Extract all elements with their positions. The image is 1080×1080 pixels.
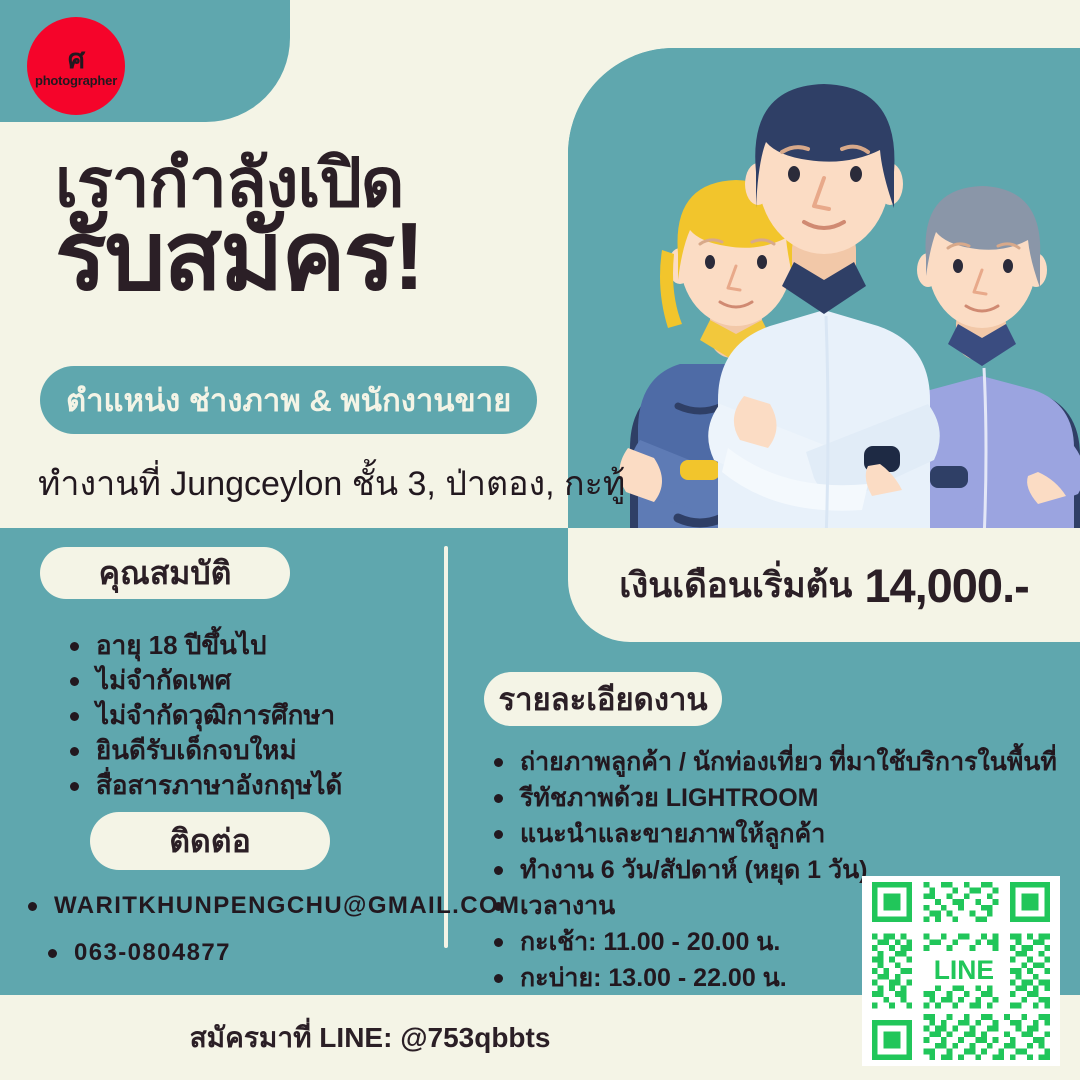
- footer-apply-line: สมัครมาที่ LINE: @753qbbts: [0, 1016, 740, 1060]
- list-item: ถ่ายภาพลูกค้า / นักท่องเที่ยว ที่มาใช้บร…: [486, 744, 1057, 780]
- salary-banner: เงินเดือนเริ่มต้น 14,000.-: [568, 528, 1080, 642]
- page-title: เรากำลังเปิด รับสมัคร!: [55, 152, 555, 304]
- three-people-illustration-icon: [568, 48, 1080, 540]
- headline-line-2: รับสมัคร!: [55, 210, 555, 304]
- contact-email[interactable]: WARITKHUNPENGCHU@GMAIL.COM: [20, 882, 520, 929]
- line-qr-code[interactable]: LINE: [862, 876, 1060, 1066]
- list-item: ไม่จำกัดวุฒิการศึกษา: [62, 698, 342, 733]
- qr-line-wordmark: LINE: [934, 955, 994, 985]
- team-illustration: [568, 48, 1080, 540]
- qualifications-list: อายุ 18 ปีขึ้นไป ไม่จำกัดเพศ ไม่จำกัดวุฒ…: [62, 628, 342, 803]
- contact-list: WARITKHUNPENGCHU@GMAIL.COM 063-0804877: [20, 882, 520, 976]
- list-item: อายุ 18 ปีขึ้นไป: [62, 628, 342, 663]
- contact-heading: ติดต่อ: [90, 812, 330, 870]
- poster-root: ศ photographer: [0, 0, 1080, 1080]
- logo-mark-icon: ศ: [68, 46, 84, 73]
- job-details-heading: รายละเอียดงาน: [484, 672, 722, 726]
- list-item: สื่อสารภาษาอังกฤษได้: [62, 768, 342, 803]
- qualifications-heading: คุณสมบัติ: [40, 547, 290, 599]
- list-item: ยินดีรับเด็กจบใหม่: [62, 733, 342, 768]
- logo-wordmark: photographer: [35, 74, 117, 87]
- salary-label: เงินเดือนเริ่มต้น: [619, 558, 852, 613]
- list-item: ไม่จำกัดเพศ: [62, 663, 342, 698]
- position-pill: ตำแหน่ง ช่างภาพ & พนักงานขาย: [40, 366, 537, 434]
- brand-logo: ศ photographer: [27, 17, 125, 115]
- qr-code-icon: LINE: [862, 876, 1060, 1066]
- location-text: ทำงานที่ Jungceylon ชั้น 3, ป่าตอง, กะทู…: [38, 456, 625, 510]
- list-item: แนะนำและขายภาพให้ลูกค้า: [486, 816, 1057, 852]
- list-item: รีทัชภาพด้วย LIGHTROOM: [486, 780, 1057, 816]
- salary-amount: 14,000.-: [864, 558, 1028, 613]
- contact-phone[interactable]: 063-0804877: [20, 929, 520, 976]
